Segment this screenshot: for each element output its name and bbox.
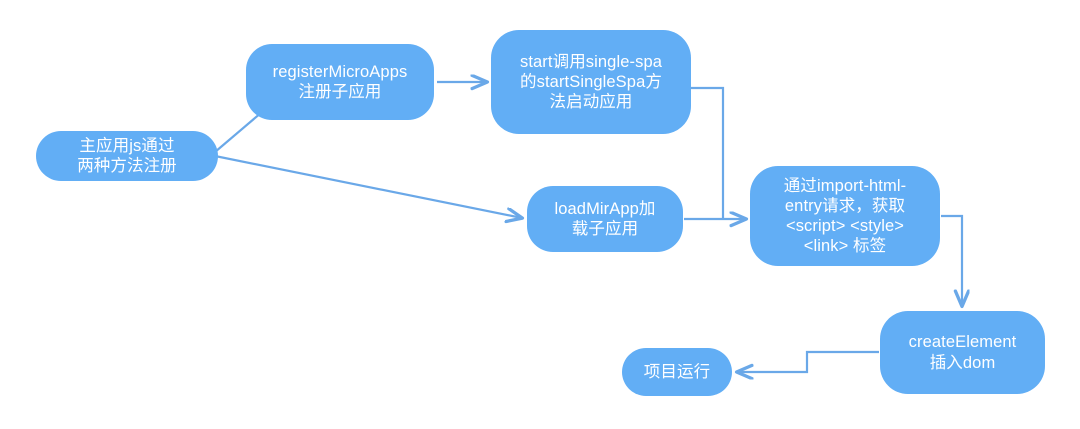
node-register-micro-apps-label: registerMicroApps 注册子应用 [267, 62, 414, 102]
node-start-single-spa-label: start调用single-spa 的startSingleSpa方 法启动应用 [514, 52, 668, 112]
node-load-mir-app[interactable]: loadMirApp加 载子应用 [527, 186, 683, 252]
edge-import-to-create [941, 216, 962, 306]
node-register-micro-apps[interactable]: registerMicroApps 注册子应用 [246, 44, 434, 120]
node-start-single-spa[interactable]: start调用single-spa 的startSingleSpa方 法启动应用 [491, 30, 691, 134]
edge-create-to-run [737, 352, 879, 372]
node-import-html-entry[interactable]: 通过import-html- entry请求，获取 <script> <styl… [750, 166, 940, 266]
flowchart-canvas: 主应用js通过 两种方法注册 registerMicroApps 注册子应用 s… [0, 0, 1080, 429]
node-project-run[interactable]: 项目运行 [622, 348, 732, 396]
edge-main-to-load [215, 156, 522, 218]
edge-start-to-import [691, 88, 723, 219]
node-project-run-label: 项目运行 [638, 362, 716, 382]
node-create-element-label: createElement 插入dom [903, 332, 1023, 372]
node-import-html-entry-label: 通过import-html- entry请求，获取 <script> <styl… [778, 176, 912, 257]
node-main-entry-label: 主应用js通过 两种方法注册 [71, 136, 183, 176]
node-create-element[interactable]: createElement 插入dom [880, 311, 1045, 394]
node-load-mir-app-label: loadMirApp加 载子应用 [548, 199, 661, 239]
node-main-entry[interactable]: 主应用js通过 两种方法注册 [36, 131, 218, 181]
